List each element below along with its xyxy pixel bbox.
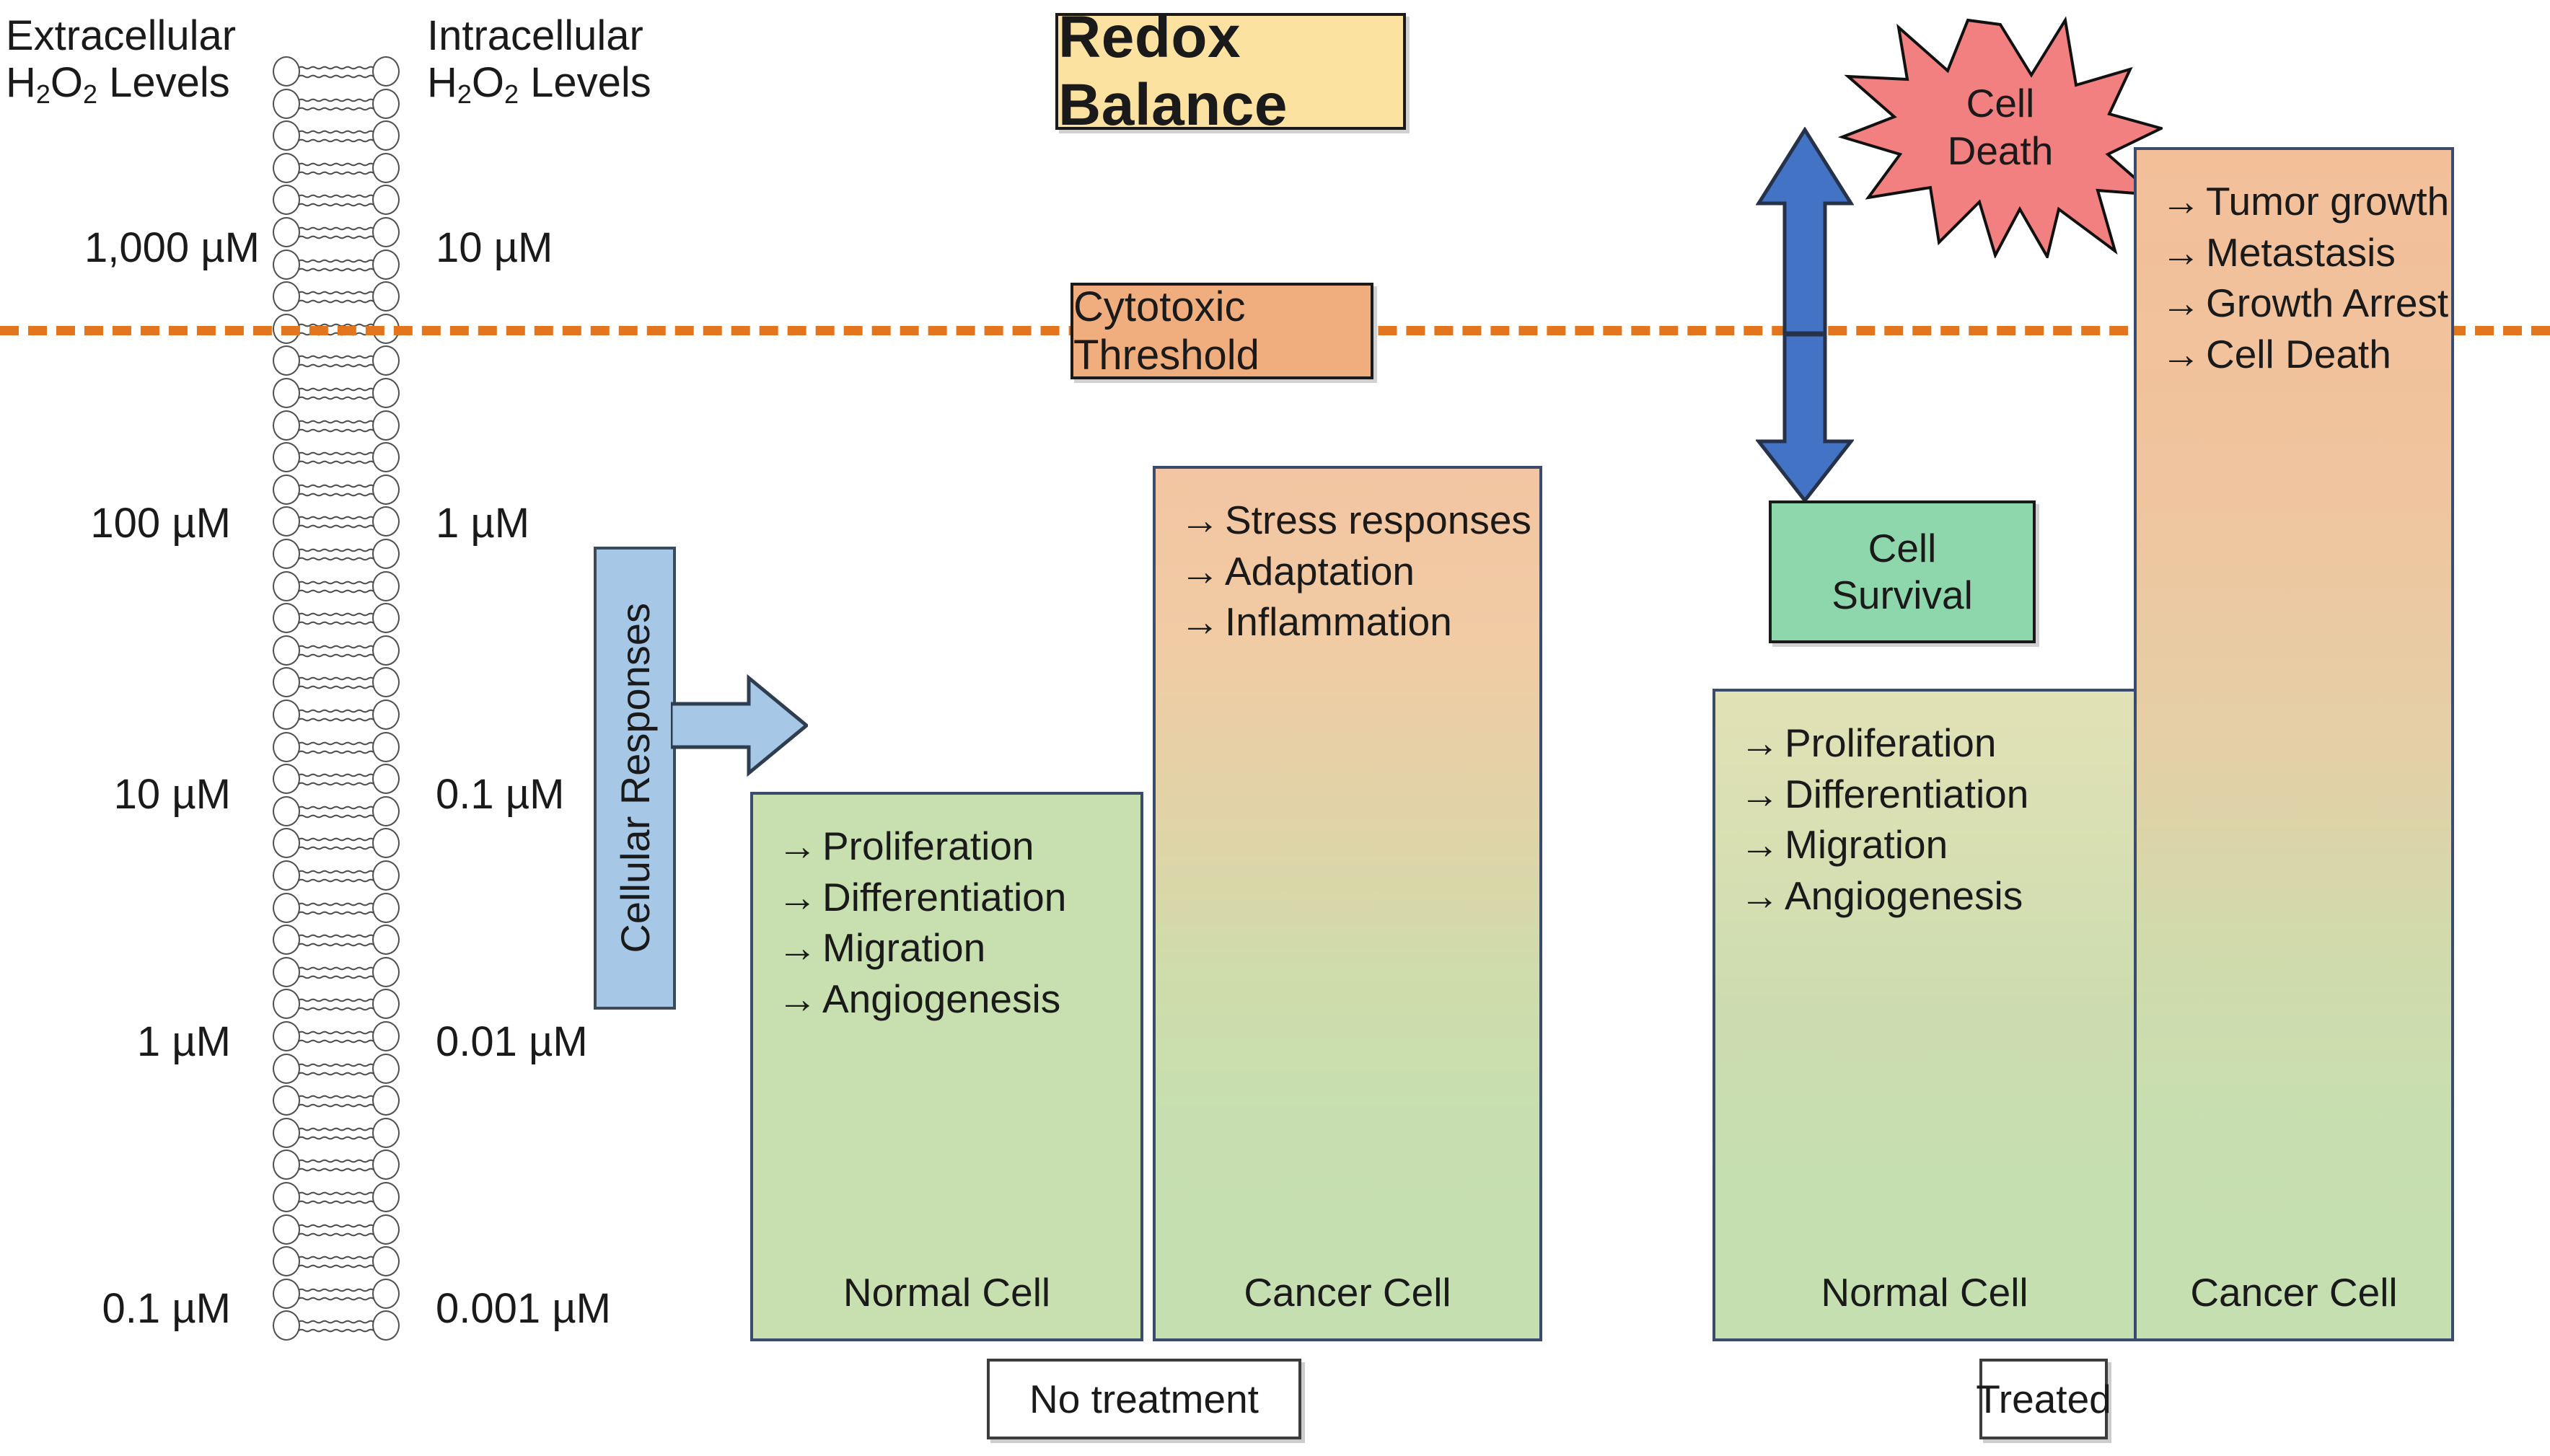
lipid-head-icon	[372, 442, 400, 472]
lipid-molecule-pair	[273, 1246, 400, 1278]
lipid-head-icon	[273, 1182, 300, 1212]
lipid-bilayer-icon	[273, 56, 400, 1344]
lipid-head-icon	[372, 1085, 400, 1116]
lipid-head-icon	[273, 442, 300, 472]
lipid-head-icon	[372, 56, 400, 87]
normal-treated-items: →Proliferation →Differentiation →Migrati…	[1740, 718, 2134, 922]
lipid-head-icon	[273, 667, 300, 697]
list-item: →Angiogenesis	[1740, 870, 2134, 922]
panel-cancer-cell-treated: →Tumor growth →Metastasis →Growth Arrest…	[2134, 147, 2454, 1341]
lipid-head-icon	[372, 860, 400, 891]
cell-death-burst: Cell Death	[1838, 13, 2163, 258]
lipid-molecule-pair	[273, 1021, 400, 1053]
lipid-tail-icon	[299, 640, 374, 662]
list-item: →Angiogenesis	[778, 974, 1140, 1025]
lipid-molecule-pair	[273, 603, 400, 635]
lipid-head-icon	[372, 120, 400, 151]
panel-normal-cell-treated: →Proliferation →Differentiation →Migrati…	[1713, 689, 2137, 1341]
list-item: →Differentiation	[1740, 769, 2134, 820]
lipid-molecule-pair	[273, 989, 400, 1020]
lipid-molecule-pair	[273, 957, 400, 989]
cell-survival-line2: Survival	[1832, 572, 1973, 619]
list-item: →Tumor growth	[2161, 176, 2451, 227]
cell-survival-box: Cell Survival	[1769, 500, 2036, 643]
lipid-head-icon	[372, 185, 400, 215]
lipid-head-icon	[372, 957, 400, 987]
panel-caption: Cancer Cell	[2137, 1269, 2451, 1315]
lipid-tail-icon	[299, 737, 374, 759]
lipid-head-icon	[273, 925, 300, 955]
list-item: →Differentiation	[778, 872, 1140, 923]
intracellular-heading: Intracellular H2O2 Levels	[427, 13, 651, 109]
lipid-head-icon	[273, 700, 300, 730]
lipid-head-icon	[372, 732, 400, 762]
lipid-head-icon	[273, 1054, 300, 1084]
lipid-molecule-pair	[273, 1150, 400, 1181]
lipid-head-icon	[273, 860, 300, 891]
lipid-head-icon	[273, 1118, 300, 1148]
lipid-head-icon	[372, 635, 400, 666]
lipid-head-icon	[372, 1054, 400, 1084]
lipid-tail-icon	[299, 769, 374, 790]
lipid-head-icon	[273, 185, 300, 215]
lipid-head-icon	[372, 764, 400, 794]
lipid-head-icon	[372, 828, 400, 858]
label-no-treatment: No treatment	[987, 1359, 1301, 1439]
lipid-tail-icon	[299, 898, 374, 919]
panel-normal-cell-untreated: →Proliferation →Differentiation →Migrati…	[750, 792, 1143, 1341]
lipid-head-icon	[273, 603, 300, 633]
lipid-molecule-pair	[273, 925, 400, 956]
lipid-molecule-pair	[273, 635, 400, 667]
extracellular-value-100: 100 µM	[0, 503, 231, 544]
redox-balance-diagram: Extracellular H2O2 Levels Intracellular …	[0, 0, 2550, 1456]
lipid-tail-icon	[299, 511, 374, 533]
panel-caption: Cancer Cell	[1156, 1269, 1539, 1315]
lipid-head-icon	[273, 539, 300, 569]
lipid-molecule-pair	[273, 1279, 400, 1310]
lipid-head-icon	[273, 250, 300, 280]
lipid-tail-icon	[299, 415, 374, 437]
lipid-head-icon	[273, 281, 300, 312]
lipid-head-icon	[273, 410, 300, 441]
lipid-tail-icon	[299, 1219, 374, 1241]
list-item: →Cell Death	[2161, 329, 2451, 380]
lipid-head-icon	[372, 153, 400, 183]
lipid-molecule-pair	[273, 281, 400, 313]
lipid-molecule-pair	[273, 378, 400, 410]
label-treated: Treated	[1979, 1359, 2108, 1439]
lipid-head-icon	[273, 1214, 300, 1245]
lipid-head-icon	[372, 217, 400, 247]
lipid-tail-icon	[299, 1284, 374, 1305]
lipid-tail-icon	[299, 1123, 374, 1144]
lipid-head-icon	[372, 989, 400, 1019]
cellular-responses-arrow-icon	[671, 672, 808, 779]
lipid-molecule-pair	[273, 571, 400, 603]
lipid-molecule-pair	[273, 860, 400, 892]
extracellular-heading: Extracellular H2O2 Levels	[6, 13, 236, 109]
lipid-head-icon	[273, 345, 300, 376]
lipid-tail-icon	[299, 962, 374, 984]
extracellular-value-0p1: 0.1 µM	[0, 1288, 231, 1330]
intracellular-value-0p001: 0.001 µM	[436, 1288, 611, 1330]
lipid-head-icon	[372, 796, 400, 826]
cancer-treated-items: →Tumor growth →Metastasis →Growth Arrest…	[2161, 176, 2451, 380]
lipid-tail-icon	[299, 1026, 374, 1048]
list-item: →Proliferation	[1740, 718, 2134, 769]
lipid-molecule-pair	[273, 410, 400, 442]
lipid-molecule-pair	[273, 1085, 400, 1117]
lipid-head-icon	[372, 89, 400, 119]
lipid-molecule-pair	[273, 732, 400, 764]
lipid-tail-icon	[299, 350, 374, 372]
lipid-head-icon	[273, 506, 300, 537]
lipid-tail-icon	[299, 994, 374, 1015]
list-item: →Inflammation	[1180, 596, 1539, 648]
lipid-head-icon	[273, 1310, 300, 1341]
lipid-head-icon	[372, 506, 400, 537]
intracellular-value-0p01: 0.01 µM	[436, 1021, 588, 1063]
lipid-molecule-pair	[273, 539, 400, 570]
lipid-head-icon	[273, 89, 300, 119]
lipid-head-icon	[372, 250, 400, 280]
lipid-molecule-pair	[273, 185, 400, 216]
lipid-tail-icon	[299, 576, 374, 598]
extracellular-heading-line1: Extracellular	[6, 13, 236, 60]
list-item: →Metastasis	[2161, 227, 2451, 278]
lipid-molecule-pair	[273, 667, 400, 699]
lipid-molecule-pair	[273, 700, 400, 731]
lipid-tail-icon	[299, 833, 374, 855]
cellular-responses-bar: Cellular Responses	[594, 547, 676, 1010]
lipid-tail-icon	[299, 94, 374, 115]
lipid-molecule-pair	[273, 345, 400, 377]
cytotoxic-threshold-label: Cytotoxic Threshold	[1070, 283, 1373, 379]
cell-survival-line1: Cell	[1868, 525, 1937, 572]
lipid-tail-icon	[299, 544, 374, 565]
lipid-molecule-pair	[273, 1182, 400, 1214]
list-item: →Migration	[1740, 819, 2134, 870]
list-item: →Stress responses	[1180, 495, 1539, 546]
lipid-head-icon	[372, 571, 400, 601]
lipid-molecule-pair	[273, 250, 400, 281]
lipid-molecule-pair	[273, 153, 400, 185]
lipid-tail-icon	[299, 801, 374, 823]
lipid-head-icon	[273, 378, 300, 408]
lipid-head-icon	[273, 893, 300, 923]
lipid-head-icon	[372, 1310, 400, 1341]
lipid-tail-icon	[299, 158, 374, 180]
lipid-head-icon	[372, 1246, 400, 1276]
lipid-tail-icon	[299, 255, 374, 276]
lipid-tail-icon	[299, 1090, 374, 1112]
lipid-head-icon	[372, 667, 400, 697]
lipid-head-icon	[372, 475, 400, 505]
lipid-tail-icon	[299, 705, 374, 726]
lipid-molecule-pair	[273, 1310, 400, 1342]
lipid-head-icon	[372, 1279, 400, 1309]
lipid-molecule-pair	[273, 1054, 400, 1085]
lipid-head-icon	[372, 700, 400, 730]
lipid-head-icon	[273, 796, 300, 826]
lipid-head-icon	[372, 1182, 400, 1212]
intracellular-value-1: 1 µM	[436, 503, 529, 544]
lipid-head-icon	[273, 1246, 300, 1276]
lipid-head-icon	[372, 1214, 400, 1245]
lipid-head-icon	[372, 603, 400, 633]
normal-untreated-items: →Proliferation →Differentiation →Migrati…	[778, 821, 1140, 1025]
lipid-tail-icon	[299, 190, 374, 211]
lipid-tail-icon	[299, 480, 374, 501]
lipid-tail-icon	[299, 1187, 374, 1209]
lipid-head-icon	[273, 732, 300, 762]
lipid-head-icon	[273, 56, 300, 87]
panel-caption: Normal Cell	[753, 1269, 1140, 1315]
cancer-untreated-items: →Stress responses →Adaptation →Inflammat…	[1180, 495, 1539, 648]
lipid-head-icon	[372, 378, 400, 408]
lipid-tail-icon	[299, 383, 374, 405]
lipid-head-icon	[372, 539, 400, 569]
lipid-tail-icon	[299, 222, 374, 244]
lipid-tail-icon	[299, 286, 374, 308]
cellular-responses-label: Cellular Responses	[612, 603, 659, 953]
lipid-molecule-pair	[273, 893, 400, 925]
lipid-head-icon	[273, 1085, 300, 1116]
extracellular-heading-line2: H2O2 Levels	[6, 60, 236, 109]
lipid-molecule-pair	[273, 217, 400, 249]
lipid-molecule-pair	[273, 796, 400, 828]
lipid-tail-icon	[299, 61, 374, 83]
list-item: →Adaptation	[1180, 546, 1539, 597]
lipid-molecule-pair	[273, 89, 400, 120]
panel-cancer-cell-untreated: →Stress responses →Adaptation →Inflammat…	[1153, 466, 1542, 1341]
intracellular-value-0p1: 0.1 µM	[436, 774, 564, 816]
lipid-head-icon	[372, 893, 400, 923]
lipid-head-icon	[372, 1118, 400, 1148]
list-item: →Growth Arrest	[2161, 278, 2451, 329]
lipid-tail-icon	[299, 125, 374, 147]
lipid-head-icon	[372, 345, 400, 376]
lipid-head-icon	[372, 1021, 400, 1051]
lipid-molecule-pair	[273, 120, 400, 152]
lipid-tail-icon	[299, 608, 374, 630]
lipid-molecule-pair	[273, 506, 400, 538]
lipid-molecule-pair	[273, 764, 400, 795]
lipid-tail-icon	[299, 1059, 374, 1080]
lipid-tail-icon	[299, 1155, 374, 1176]
lipid-molecule-pair	[273, 442, 400, 474]
lipid-molecule-pair	[273, 1214, 400, 1246]
intracellular-value-10: 10 µM	[436, 227, 553, 269]
lipid-head-icon	[273, 989, 300, 1019]
intracellular-heading-line1: Intracellular	[427, 13, 651, 60]
lipid-head-icon	[273, 957, 300, 987]
extracellular-value-1: 1 µM	[0, 1021, 231, 1063]
list-item: →Proliferation	[778, 821, 1140, 872]
lipid-tail-icon	[299, 930, 374, 951]
lipid-head-icon	[273, 828, 300, 858]
lipid-tail-icon	[299, 1251, 374, 1273]
intracellular-heading-line2: H2O2 Levels	[427, 60, 651, 109]
page-title: Redox Balance	[1055, 13, 1406, 130]
explosion-star-icon	[1838, 13, 2163, 258]
lipid-head-icon	[273, 475, 300, 505]
lipid-head-icon	[273, 1150, 300, 1180]
lipid-head-icon	[372, 1150, 400, 1180]
lipid-head-icon	[273, 217, 300, 247]
lipid-head-icon	[372, 925, 400, 955]
lipid-tail-icon	[299, 1315, 374, 1337]
lipid-head-icon	[273, 764, 300, 794]
lipid-head-icon	[273, 635, 300, 666]
lipid-tail-icon	[299, 672, 374, 694]
lipid-molecule-pair	[273, 828, 400, 860]
lipid-head-icon	[273, 120, 300, 151]
lipid-tail-icon	[299, 865, 374, 887]
list-item: →Migration	[778, 922, 1140, 974]
extracellular-value-10: 10 µM	[0, 774, 231, 816]
lipid-tail-icon	[299, 447, 374, 469]
lipid-molecule-pair	[273, 475, 400, 506]
lipid-head-icon	[372, 410, 400, 441]
lipid-head-icon	[273, 1279, 300, 1309]
extracellular-value-1000: 1,000 µM	[0, 227, 260, 269]
lipid-head-icon	[372, 281, 400, 312]
lipid-molecule-pair	[273, 56, 400, 88]
lipid-head-icon	[273, 153, 300, 183]
arrow-down-icon	[1756, 333, 1854, 503]
lipid-molecule-pair	[273, 1118, 400, 1150]
lipid-head-icon	[273, 571, 300, 601]
panel-caption: Normal Cell	[1715, 1269, 2134, 1315]
lipid-head-icon	[273, 1021, 300, 1051]
